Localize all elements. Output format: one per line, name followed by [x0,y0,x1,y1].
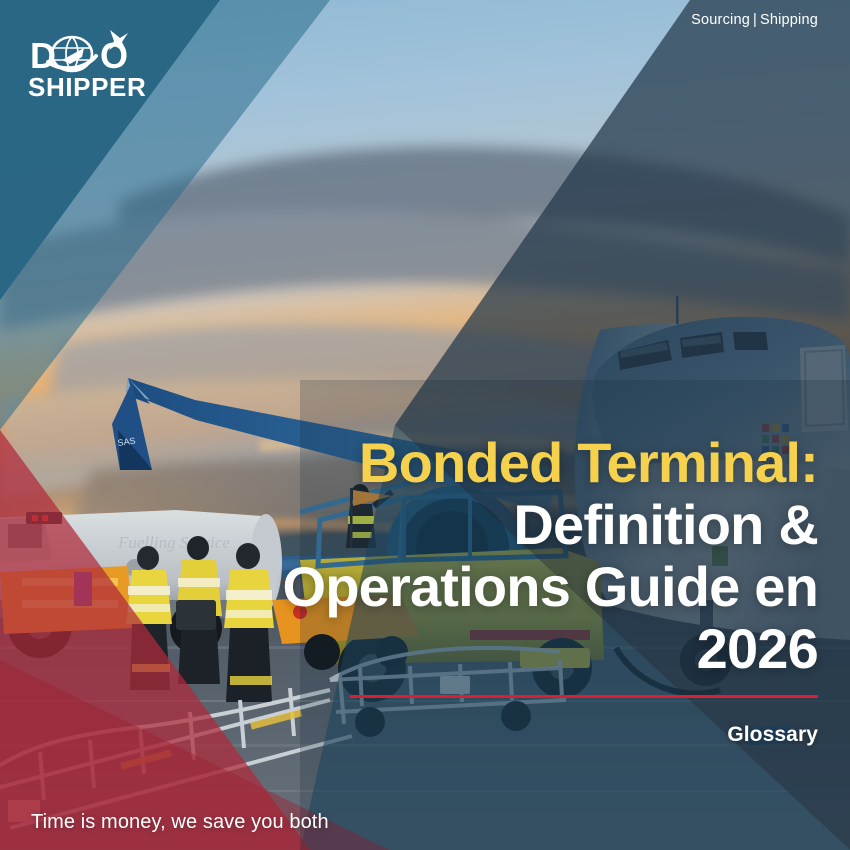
logo-wordmark-shipper: SHIPPER [28,72,146,102]
background-photo: SAS SAS [0,0,850,850]
divider-rule [350,695,818,698]
brand-logo[interactable]: DOC SHIPPER [26,26,156,102]
poster-canvas: SAS SAS [0,0,850,850]
footer-slogan: Time is money, we save you both [31,811,329,834]
title-line-3: Operations Guide en [178,556,818,618]
services-tagline: Sourcing|Shipping [691,12,818,28]
title-line-1: Bonded Terminal: [178,432,818,494]
category-label: Glossary [727,723,818,747]
service-separator: | [750,12,760,28]
title-line-2: Definition & [178,494,818,556]
title-line-4: 2026 [178,618,818,680]
service-sourcing: Sourcing [691,12,750,28]
service-shipping: Shipping [760,12,818,28]
page-title: Bonded Terminal: Definition & Operations… [178,432,818,680]
logo-letter-d: DOC [30,35,156,76]
